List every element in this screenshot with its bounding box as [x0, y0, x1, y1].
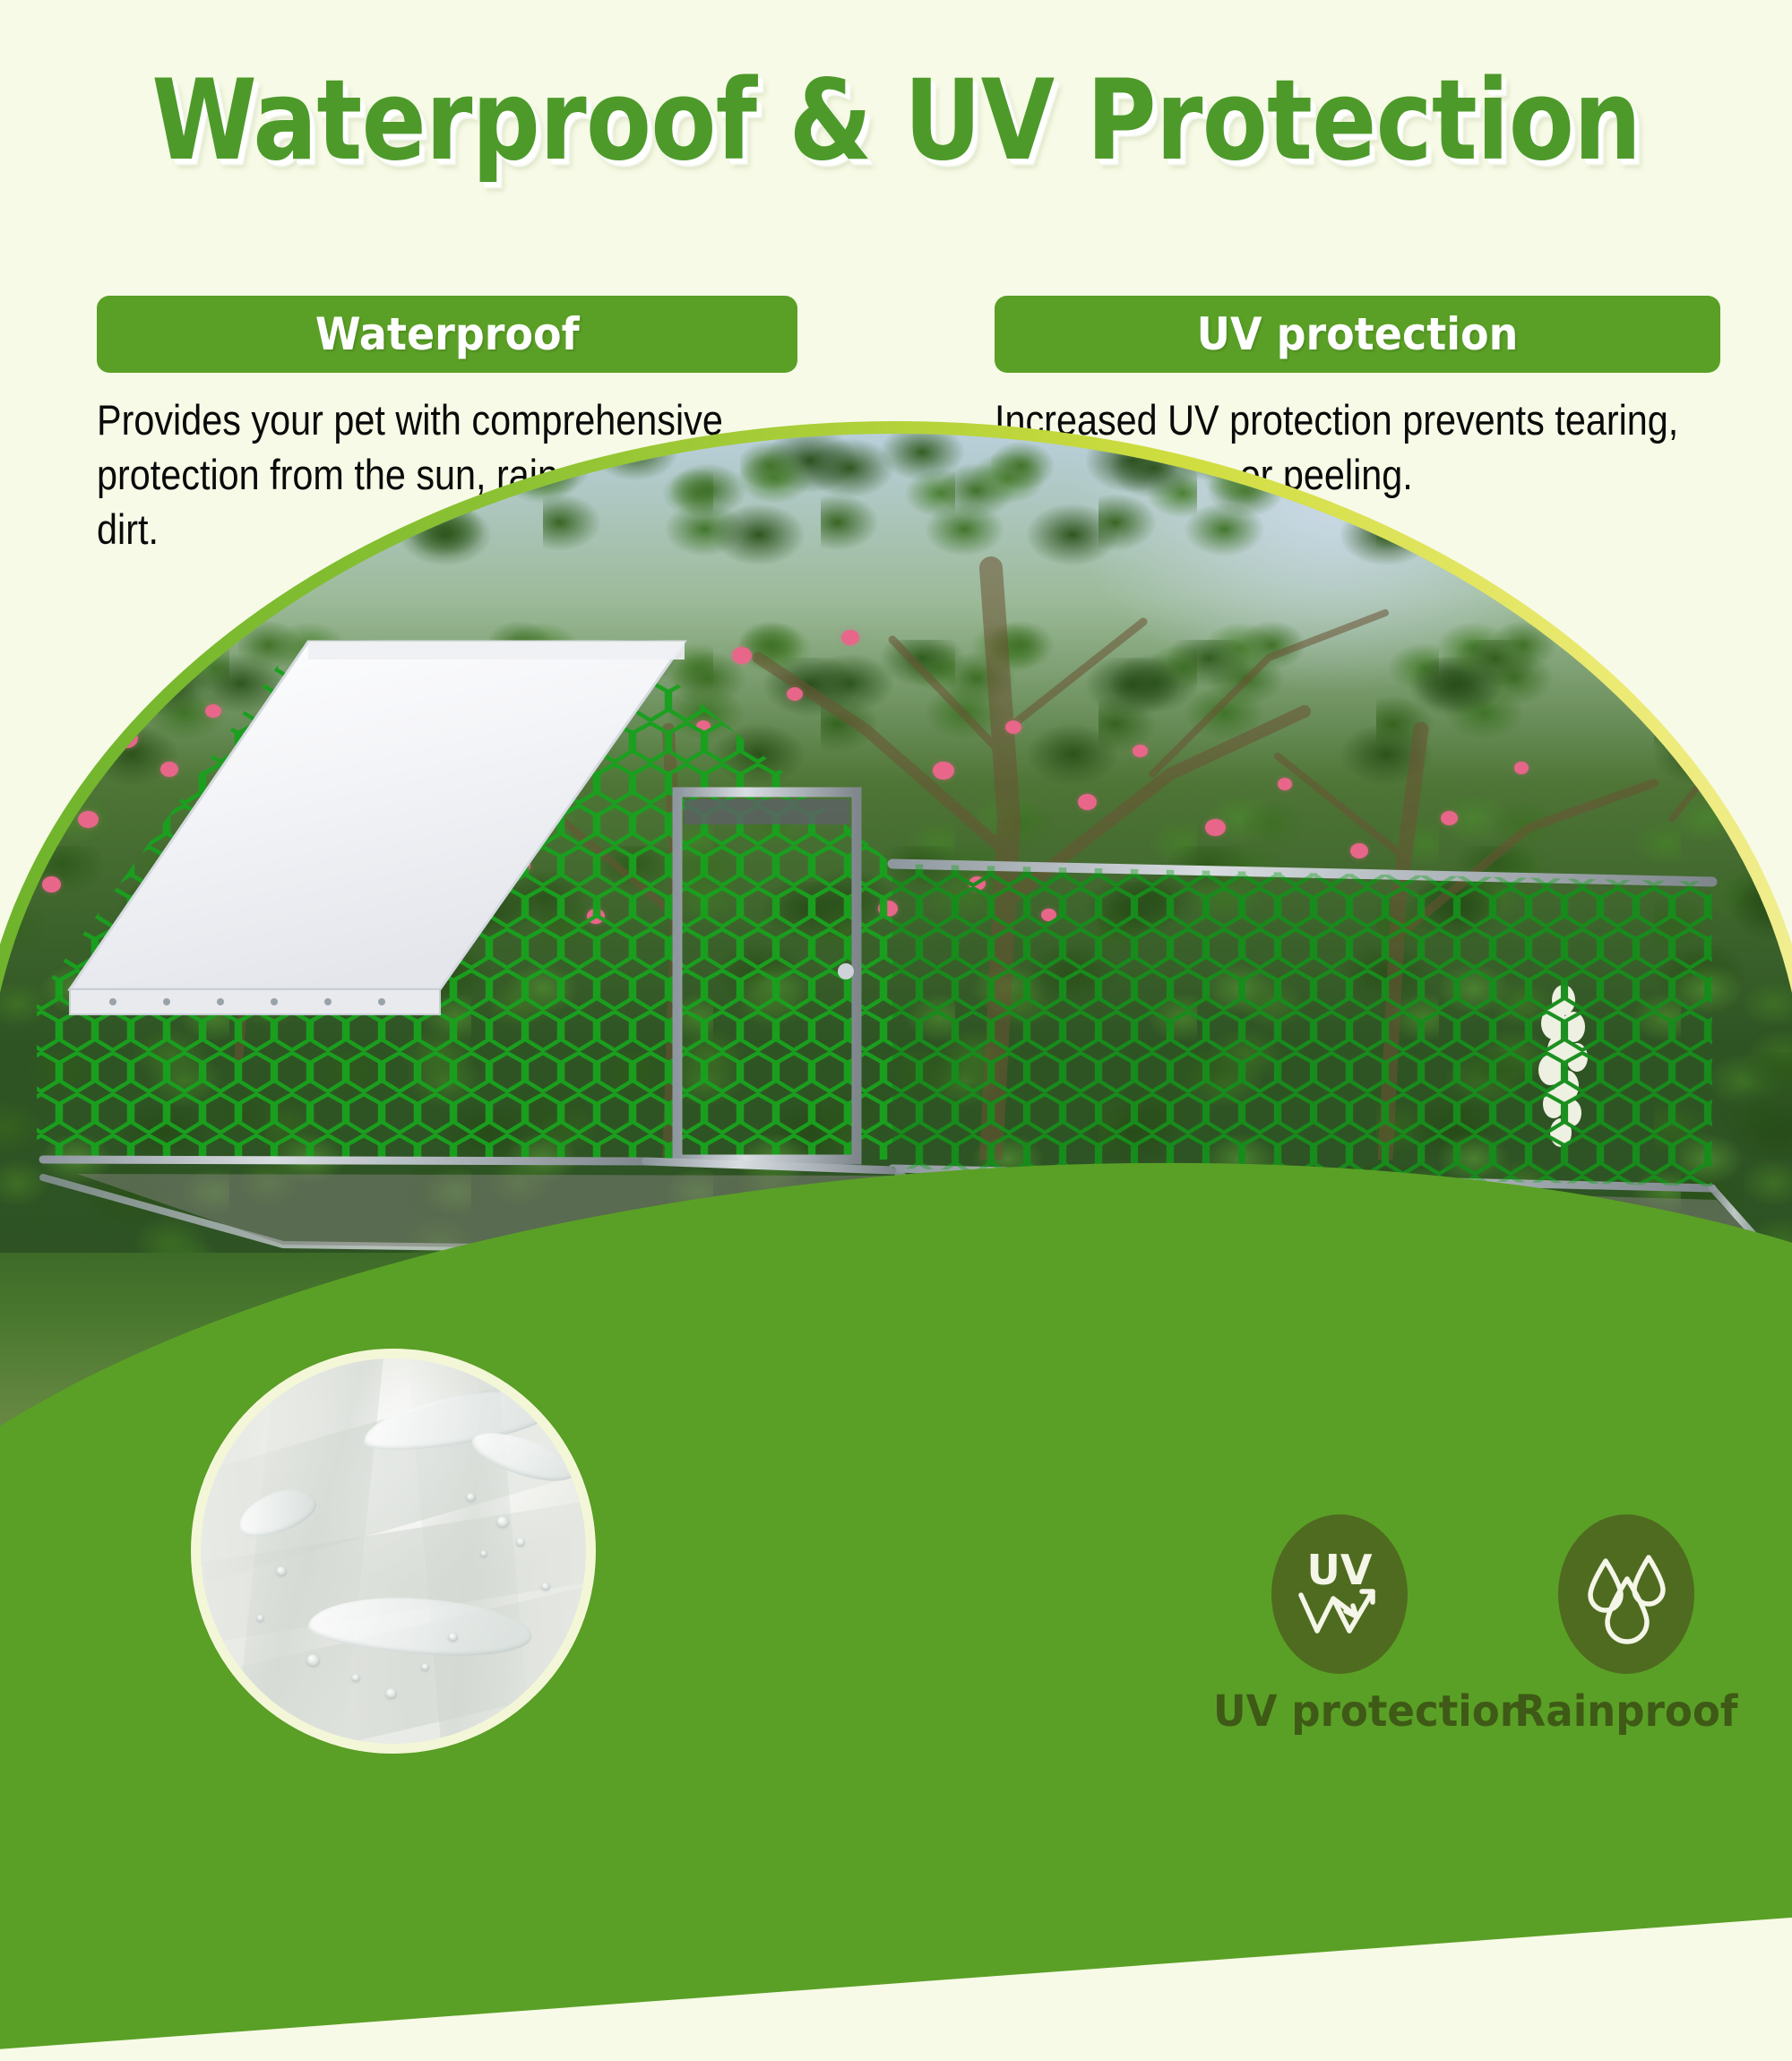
water-bead — [276, 1566, 287, 1576]
feature-badges: UV UV protection Rainproof — [1205, 1514, 1779, 1774]
water-bead — [448, 1633, 458, 1642]
feature-pill-label: UV protection — [1197, 308, 1519, 360]
badge-label: UV protection — [1213, 1686, 1466, 1737]
water-bead — [516, 1538, 525, 1547]
water-bead — [306, 1654, 320, 1667]
water-bead — [421, 1663, 429, 1671]
droplets-icon-glyph — [1573, 1539, 1679, 1649]
badge-uv-protection: UV UV protection — [1205, 1514, 1474, 1737]
water-bead — [466, 1493, 476, 1502]
water-bead — [496, 1516, 509, 1528]
feature-pill-waterproof: Waterproof — [97, 296, 797, 373]
page-header: Waterproof & UV Protection — [0, 54, 1792, 188]
water-drops-icon — [1558, 1514, 1694, 1674]
uv-icon-glyph: UV — [1287, 1539, 1392, 1649]
badge-label: Rainproof — [1500, 1686, 1753, 1737]
svg-text:UV: UV — [1307, 1546, 1373, 1594]
feature-pill-label: Waterproof — [315, 308, 580, 360]
page-title: Waterproof & UV Protection — [151, 65, 1641, 177]
uv-shield-icon: UV — [1271, 1514, 1408, 1674]
coop-gable — [646, 658, 892, 1160]
fabric-closeup-inset — [191, 1349, 596, 1754]
feature-pill-uv: UV protection — [995, 296, 1720, 373]
water-bead — [480, 1550, 487, 1557]
water-bead — [351, 1674, 360, 1682]
badge-rainproof: Rainproof — [1492, 1514, 1761, 1737]
water-bead — [541, 1582, 550, 1591]
water-bead — [256, 1615, 264, 1622]
water-bead — [385, 1688, 397, 1699]
